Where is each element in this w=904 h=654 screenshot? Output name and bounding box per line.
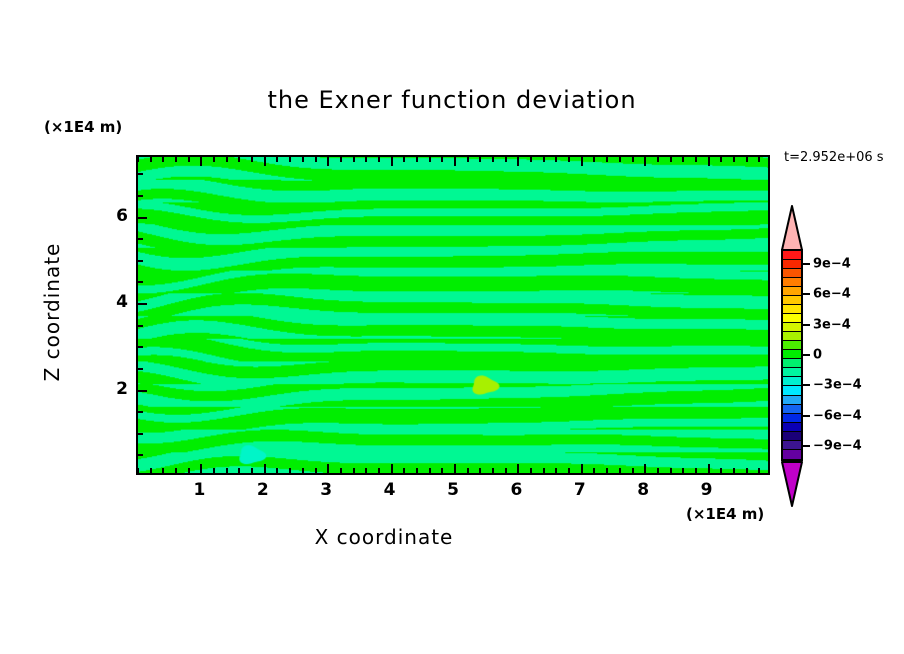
x-tick-minor-top <box>606 157 608 162</box>
x-tick-label: 3 <box>320 480 332 500</box>
x-tick-minor-top <box>441 157 443 162</box>
colorbar-tick <box>803 384 810 386</box>
colorbar-tick <box>803 415 810 417</box>
x-tick-minor-top <box>670 157 672 162</box>
y-tick-minor <box>138 325 143 327</box>
x-tick-label: 1 <box>193 480 205 500</box>
x-tick-major <box>391 464 393 473</box>
colorbar-tick <box>803 354 810 356</box>
x-tick-minor <box>492 468 494 473</box>
colorbar-band <box>783 386 801 395</box>
y-tick-major <box>138 217 147 219</box>
x-tick-major-top <box>517 157 519 166</box>
y-tick-minor <box>138 433 143 435</box>
x-tick-minor-top <box>682 157 684 162</box>
colorbar-band <box>783 269 801 278</box>
y-tick-label: 6 <box>110 206 128 226</box>
colorbar-tick-label: −3e−4 <box>813 378 862 393</box>
x-tick-minor <box>251 468 253 473</box>
y-tick-minor <box>138 346 143 348</box>
x-tick-minor <box>365 468 367 473</box>
contour-plot-figure: the Exner function deviation (×1E4 m) t=… <box>0 0 904 654</box>
y-tick-minor <box>138 260 143 262</box>
x-tick-minor <box>378 468 380 473</box>
colorbar-cap-top <box>781 205 803 251</box>
x-tick-major <box>708 464 710 473</box>
x-tick-minor-top <box>733 157 735 162</box>
x-tick-minor-top <box>530 157 532 162</box>
x-tick-major-top <box>200 157 202 166</box>
x-tick-minor-top <box>137 157 139 162</box>
colorbar-band <box>783 314 801 323</box>
x-tick-major <box>200 464 202 473</box>
x-tick-minor <box>619 468 621 473</box>
x-tick-minor-top <box>479 157 481 162</box>
x-tick-major <box>644 464 646 473</box>
x-tick-minor <box>416 468 418 473</box>
x-tick-minor-top <box>555 157 557 162</box>
colorbar-band <box>783 341 801 350</box>
x-tick-minor <box>353 468 355 473</box>
colorbar-band <box>783 368 801 377</box>
x-tick-minor <box>403 468 405 473</box>
x-tick-minor <box>479 468 481 473</box>
x-tick-minor <box>593 468 595 473</box>
colorbar-tick-label: 6e−4 <box>813 287 851 302</box>
y-axis-title: Z coordinate <box>40 222 64 402</box>
x-tick-minor-top <box>315 157 317 162</box>
plot-area <box>136 155 770 475</box>
colorbar-tick-label: 0 <box>813 348 822 363</box>
x-tick-minor <box>657 468 659 473</box>
y-tick-minor <box>138 173 143 175</box>
x-tick-minor-top <box>353 157 355 162</box>
x-tick-minor-top <box>429 157 431 162</box>
x-tick-minor <box>606 468 608 473</box>
x-tick-minor <box>302 468 304 473</box>
x-tick-minor-top <box>720 157 722 162</box>
x-tick-minor-top <box>632 157 634 162</box>
x-tick-minor <box>720 468 722 473</box>
x-tick-minor <box>175 468 177 473</box>
x-tick-minor-top <box>505 157 507 162</box>
colorbar-tick <box>803 445 810 447</box>
x-tick-minor-top <box>251 157 253 162</box>
x-tick-major <box>581 464 583 473</box>
x-tick-minor-top <box>657 157 659 162</box>
colorbar-band <box>783 323 801 332</box>
x-tick-major-top <box>644 157 646 166</box>
x-tick-minor-top <box>365 157 367 162</box>
x-tick-minor <box>758 468 760 473</box>
x-tick-major-top <box>581 157 583 166</box>
y-tick-minor <box>138 368 143 370</box>
x-tick-minor-top <box>695 157 697 162</box>
x-tick-minor-top <box>543 157 545 162</box>
colorbar-band <box>783 441 801 450</box>
x-tick-label: 4 <box>384 480 396 500</box>
x-tick-minor-top <box>378 157 380 162</box>
colorbar-band <box>783 450 801 459</box>
colorbar-band <box>783 377 801 386</box>
x-tick-major <box>327 464 329 473</box>
x-tick-minor <box>315 468 317 473</box>
x-tick-minor-top <box>213 157 215 162</box>
x-tick-minor <box>733 468 735 473</box>
colorbar-tick <box>803 263 810 265</box>
x-tick-minor-top <box>467 157 469 162</box>
x-tick-minor-top <box>175 157 177 162</box>
x-tick-minor-top <box>340 157 342 162</box>
x-tick-major-top <box>454 157 456 166</box>
x-tick-minor-top <box>302 157 304 162</box>
x-tick-minor <box>276 468 278 473</box>
x-tick-label: 8 <box>637 480 649 500</box>
x-tick-label: 9 <box>701 480 713 500</box>
x-tick-minor <box>746 468 748 473</box>
colorbar-band <box>783 332 801 341</box>
contour-field <box>138 157 768 473</box>
x-tick-minor <box>162 468 164 473</box>
colorbar: 9e−46e−43e−40−3e−4−6e−4−9e−4 <box>781 205 803 505</box>
colorbar-tick-label: −9e−4 <box>813 438 862 453</box>
x-tick-minor <box>429 468 431 473</box>
x-tick-minor <box>467 468 469 473</box>
x-tick-minor <box>150 468 152 473</box>
x-tick-label: 5 <box>447 480 459 500</box>
x-tick-label: 6 <box>510 480 522 500</box>
colorbar-band <box>783 405 801 414</box>
x-tick-minor <box>226 468 228 473</box>
x-tick-minor <box>568 468 570 473</box>
y-tick-minor <box>138 238 143 240</box>
colorbar-band <box>783 296 801 305</box>
x-tick-major-top <box>391 157 393 166</box>
x-tick-minor-top <box>619 157 621 162</box>
x-tick-minor <box>505 468 507 473</box>
x-tick-minor <box>188 468 190 473</box>
y-tick-minor <box>138 281 143 283</box>
x-tick-major <box>517 464 519 473</box>
x-tick-minor <box>238 468 240 473</box>
colorbar-band <box>783 278 801 287</box>
y-tick-minor <box>138 195 143 197</box>
colorbar-tick <box>803 293 810 295</box>
time-stamp-label: t=2.952e+06 s <box>784 150 884 165</box>
colorbar-tick-label: −6e−4 <box>813 408 862 423</box>
x-tick-major <box>454 464 456 473</box>
y-axis-unit-label: (×1E4 m) <box>44 118 122 136</box>
x-tick-minor <box>682 468 684 473</box>
x-tick-minor-top <box>289 157 291 162</box>
y-tick-label: 4 <box>110 292 128 312</box>
x-tick-minor-top <box>276 157 278 162</box>
x-tick-minor-top <box>238 157 240 162</box>
x-tick-label: 2 <box>257 480 269 500</box>
y-tick-major <box>138 390 147 392</box>
colorbar-bands <box>781 249 803 461</box>
x-axis-title: X coordinate <box>0 525 768 549</box>
x-tick-minor <box>530 468 532 473</box>
x-tick-minor <box>670 468 672 473</box>
colorbar-tick-label: 3e−4 <box>813 317 851 332</box>
x-tick-minor <box>137 468 139 473</box>
x-tick-minor-top <box>746 157 748 162</box>
colorbar-band <box>783 396 801 405</box>
y-tick-minor <box>138 411 143 413</box>
x-tick-major-top <box>708 157 710 166</box>
x-tick-minor-top <box>758 157 760 162</box>
colorbar-tick <box>803 324 810 326</box>
y-tick-major <box>138 303 147 305</box>
x-tick-minor <box>441 468 443 473</box>
colorbar-band <box>783 350 801 359</box>
x-tick-minor-top <box>403 157 405 162</box>
colorbar-cap-bottom <box>781 461 803 507</box>
x-tick-minor-top <box>162 157 164 162</box>
x-tick-minor-top <box>188 157 190 162</box>
x-tick-major-top <box>264 157 266 166</box>
x-tick-minor-top <box>226 157 228 162</box>
x-tick-minor <box>632 468 634 473</box>
x-tick-minor <box>555 468 557 473</box>
x-tick-minor-top <box>416 157 418 162</box>
x-tick-minor <box>695 468 697 473</box>
colorbar-band <box>783 251 801 260</box>
y-tick-label: 2 <box>110 379 128 399</box>
x-tick-minor-top <box>492 157 494 162</box>
x-axis-unit-label: (×1E4 m) <box>686 505 764 523</box>
colorbar-band <box>783 287 801 296</box>
colorbar-band <box>783 260 801 269</box>
colorbar-band <box>783 359 801 368</box>
x-tick-minor-top <box>150 157 152 162</box>
colorbar-band <box>783 432 801 441</box>
x-tick-minor <box>543 468 545 473</box>
x-tick-minor-top <box>568 157 570 162</box>
colorbar-tick-label: 9e−4 <box>813 257 851 272</box>
x-tick-minor <box>289 468 291 473</box>
y-tick-minor <box>138 454 143 456</box>
x-tick-minor <box>340 468 342 473</box>
x-tick-minor-top <box>593 157 595 162</box>
x-tick-label: 7 <box>574 480 586 500</box>
page-title: the Exner function deviation <box>0 86 904 114</box>
x-tick-major <box>264 464 266 473</box>
x-tick-minor <box>213 468 215 473</box>
colorbar-band <box>783 305 801 314</box>
colorbar-band <box>783 423 801 432</box>
x-tick-major-top <box>327 157 329 166</box>
colorbar-band <box>783 414 801 423</box>
